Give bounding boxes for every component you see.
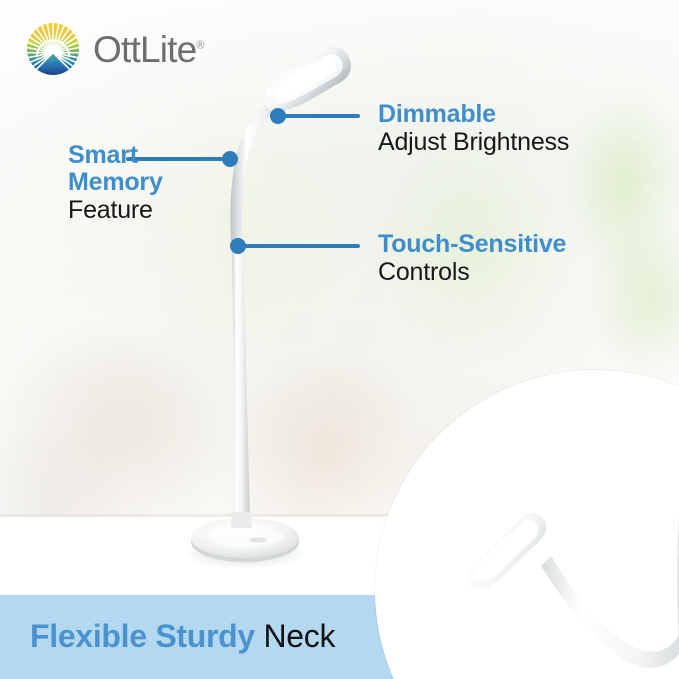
leader-dot-dimmable <box>270 108 286 124</box>
inset-neck-bent-upper <box>541 556 679 668</box>
banner-headline-plain: Neck <box>264 618 336 654</box>
sunburst-circle-icon <box>22 18 84 80</box>
callout-touch-sensitive: Touch-Sensitive Controls <box>378 231 566 287</box>
brand-wordmark-text: OttLite <box>93 29 196 70</box>
banner-headline-strong: Flexible Sturdy <box>30 618 255 654</box>
leader-dot-touch-sensitive <box>230 238 246 254</box>
banner-headline: Flexible Sturdy Neck <box>30 613 335 659</box>
inset-lamp-head-upper <box>459 507 555 596</box>
brand-logo: OttLite® <box>22 18 204 80</box>
callout-touch-sensitive-sub: Controls <box>378 258 566 287</box>
callout-dimmable: Dimmable Adjust Brightness <box>378 101 569 157</box>
leader-line-touch-sensitive <box>238 244 360 248</box>
marketing-image: Smart Memory Feature Dimmable Adjust Bri… <box>0 0 679 679</box>
leader-line-dimmable <box>278 114 360 118</box>
flexible-neck-inset-illustration <box>375 370 679 679</box>
callout-smart-memory-sub: Feature <box>68 196 163 225</box>
callout-touch-sensitive-title: Touch-Sensitive <box>378 231 566 258</box>
callout-dimmable-sub: Adjust Brightness <box>378 128 569 157</box>
registered-trademark-icon: ® <box>196 39 203 51</box>
callout-smart-memory-line1: Smart <box>68 142 163 169</box>
leader-dot-smart-memory <box>222 151 238 167</box>
callout-dimmable-title: Dimmable <box>378 101 569 128</box>
flexible-neck-inset <box>375 370 679 679</box>
brand-wordmark: OttLite® <box>93 31 204 68</box>
callout-smart-memory: Smart Memory Feature <box>68 142 163 225</box>
callout-smart-memory-line2: Memory <box>68 169 163 196</box>
